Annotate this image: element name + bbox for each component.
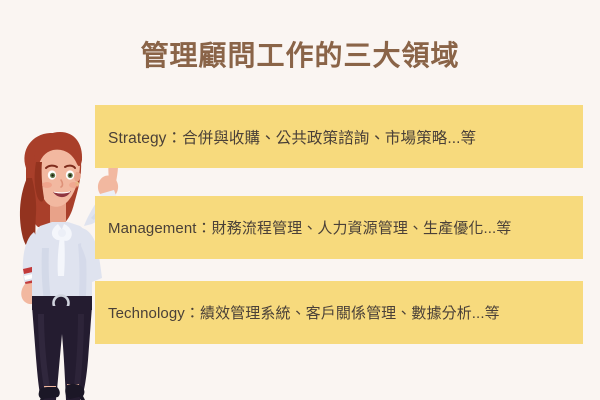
- topic-bar-label: Technology：績效管理系統、客戶關係管理、數據分析...等: [95, 302, 508, 323]
- topic-bar-technology[interactable]: Technology：績效管理系統、客戶關係管理、數據分析...等: [95, 281, 583, 344]
- slide-canvas: 管理顧問工作的三大領域: [0, 0, 600, 400]
- topic-bar-strategy[interactable]: Strategy：合併與收購、公共政策諮詢、市場策略...等: [95, 105, 583, 168]
- page-title: 管理顧問工作的三大領域: [0, 36, 600, 76]
- businesswoman-pointing-up-illustration: [8, 128, 126, 400]
- topic-bar-label: Strategy：合併與收購、公共政策諮詢、市場策略...等: [95, 126, 484, 148]
- topic-bar-management[interactable]: Management：財務流程管理、人力資源管理、生產優化...等: [95, 196, 583, 259]
- topic-bar-label: Management：財務流程管理、人力資源管理、生產優化...等: [95, 217, 519, 238]
